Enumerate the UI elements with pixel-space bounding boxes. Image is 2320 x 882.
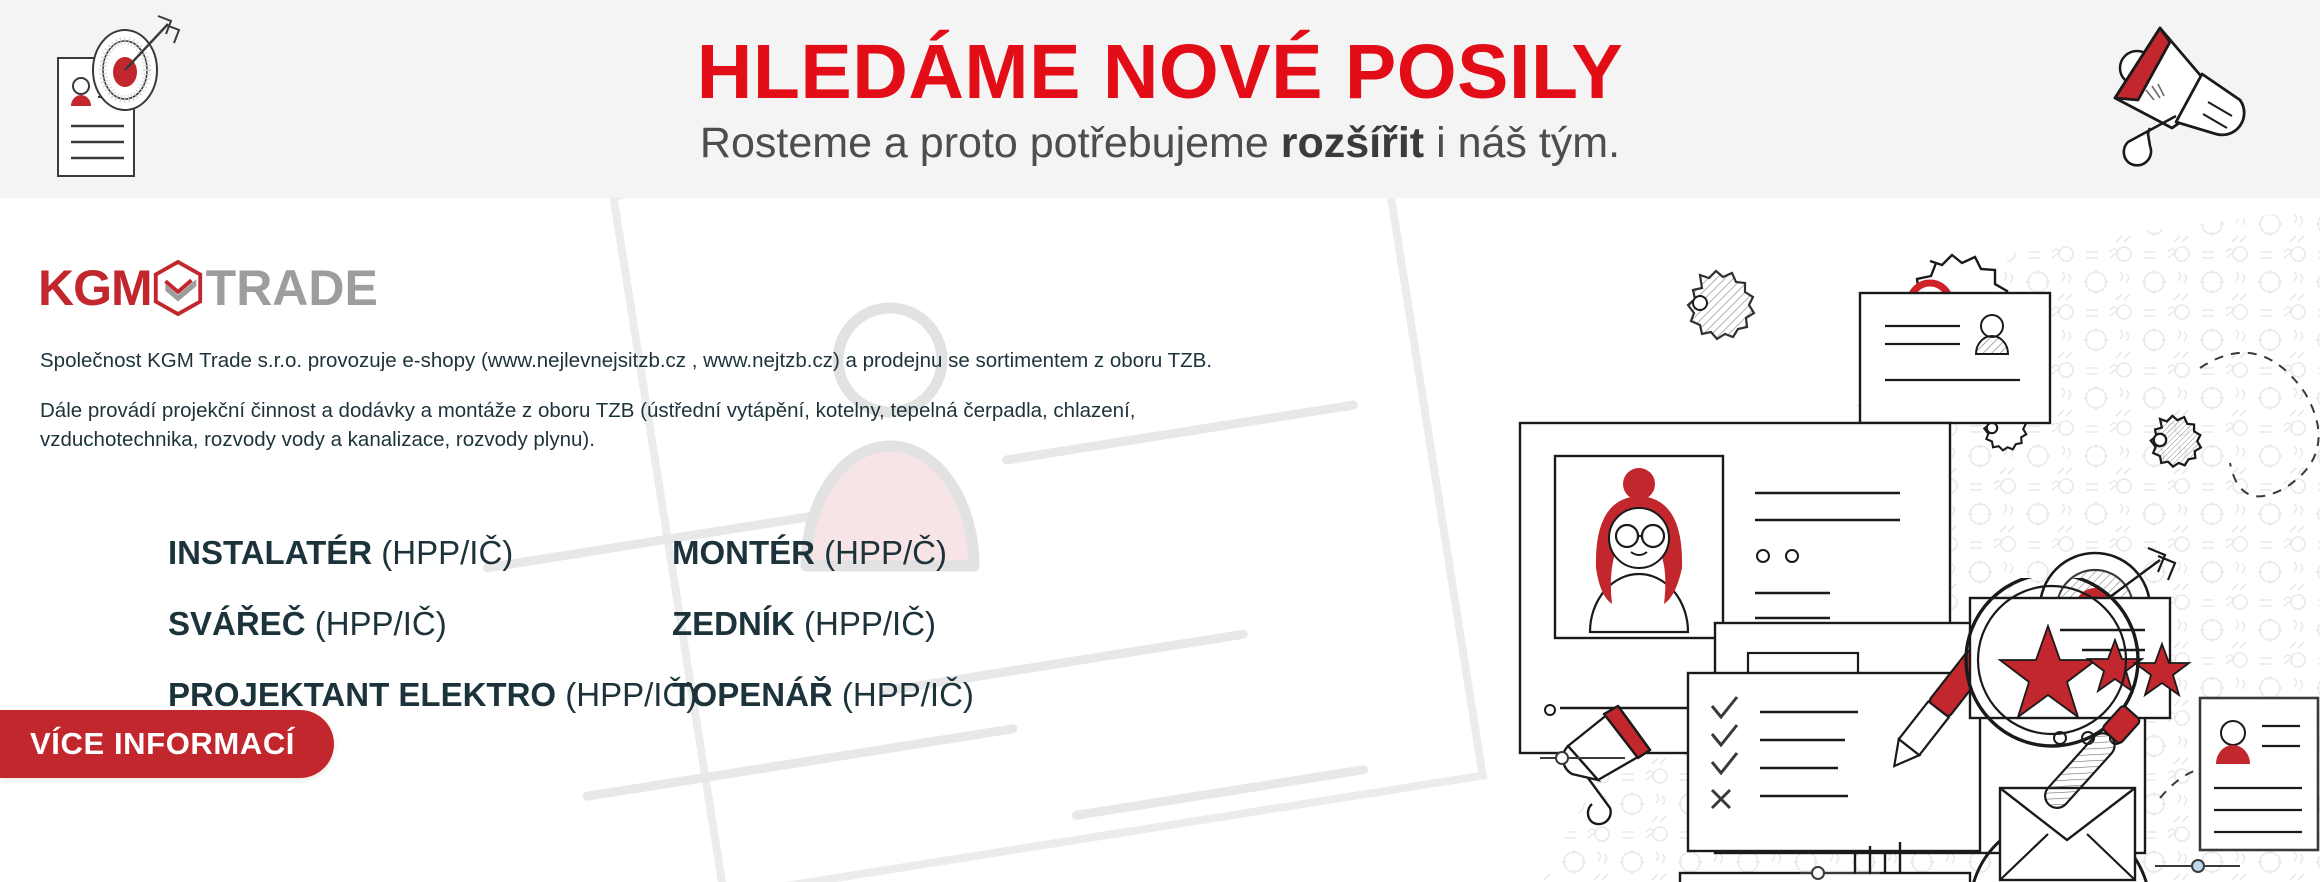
checklist-pen-icon (1688, 640, 1997, 851)
job-title: SVÁŘEČ (168, 605, 306, 642)
job-title: INSTALATÉR (168, 534, 372, 571)
subtitle-prefix: Rosteme a proto potřebujeme (700, 119, 1281, 167)
header-text-block: HLEDÁME NOVÉ POSILY Rosteme a proto potř… (0, 0, 2320, 198)
job-item[interactable]: INSTALATÉR (HPP/IČ) (168, 528, 697, 578)
company-description-paragraph-1: Společnost KGM Trade s.r.o. provozuje e-… (40, 346, 1640, 375)
job-title: MONTÉR (672, 534, 815, 571)
hr-illustration-collage-lower (1500, 578, 2320, 882)
job-title: ZEDNÍK (672, 605, 795, 642)
job-title: PROJEKTANT ELEKTRO (168, 676, 556, 713)
company-description-paragraph-2: Dále provádí projekční činnost a dodávky… (40, 396, 1255, 454)
hexagon-arrows-icon (152, 260, 204, 316)
person-document-icon (2200, 698, 2318, 850)
job-item[interactable]: TOPENÁŘ (HPP/IČ) (672, 670, 974, 720)
subtitle-suffix: i náš tým. (1424, 119, 1620, 167)
logo-text-kgm: KGM (38, 263, 152, 313)
body-area: KGM TRADE Společnost KGM Trade s.r.o. pr… (0, 198, 2320, 882)
job-contract-type: (HPP/IČ) (804, 605, 936, 642)
logo-text-trade: TRADE (206, 263, 378, 313)
job-contract-type: (HPP/IČ) (315, 605, 447, 642)
resume-card-icon (1860, 293, 2050, 423)
more-info-button-label: VÍCE INFORMACÍ (0, 726, 295, 762)
job-contract-type: (HPP/IČ) (842, 676, 974, 713)
job-item[interactable]: ZEDNÍK (HPP/IČ) (672, 599, 974, 649)
page-title: HLEDÁME NOVÉ POSILY (697, 29, 1624, 115)
job-contract-type: (HPP/Č) (824, 534, 947, 571)
job-title: TOPENÁŘ (672, 676, 833, 713)
page-subtitle: Rosteme a proto potřebujeme rozšířit i n… (700, 117, 1620, 169)
job-item[interactable]: SVÁŘEČ (HPP/IČ) (168, 599, 697, 649)
job-column-right: MONTÉR (HPP/Č) ZEDNÍK (HPP/IČ) TOPENÁŘ (… (672, 528, 974, 741)
job-item[interactable]: MONTÉR (HPP/Č) (672, 528, 974, 578)
megaphone-icon (2090, 10, 2305, 185)
logo[interactable]: KGM TRADE (38, 260, 378, 316)
subtitle-emphasis: rozšířit (1281, 119, 1424, 167)
header-band: HLEDÁME NOVÉ POSILY Rosteme a proto potř… (0, 0, 2320, 198)
more-info-button[interactable]: VÍCE INFORMACÍ (0, 710, 334, 778)
magnifier-stars-icon (1966, 578, 2189, 813)
job-contract-type: (HPP/IČ) (381, 534, 513, 571)
recruitment-banner: HLEDÁME NOVÉ POSILY Rosteme a proto potř… (0, 0, 2320, 882)
